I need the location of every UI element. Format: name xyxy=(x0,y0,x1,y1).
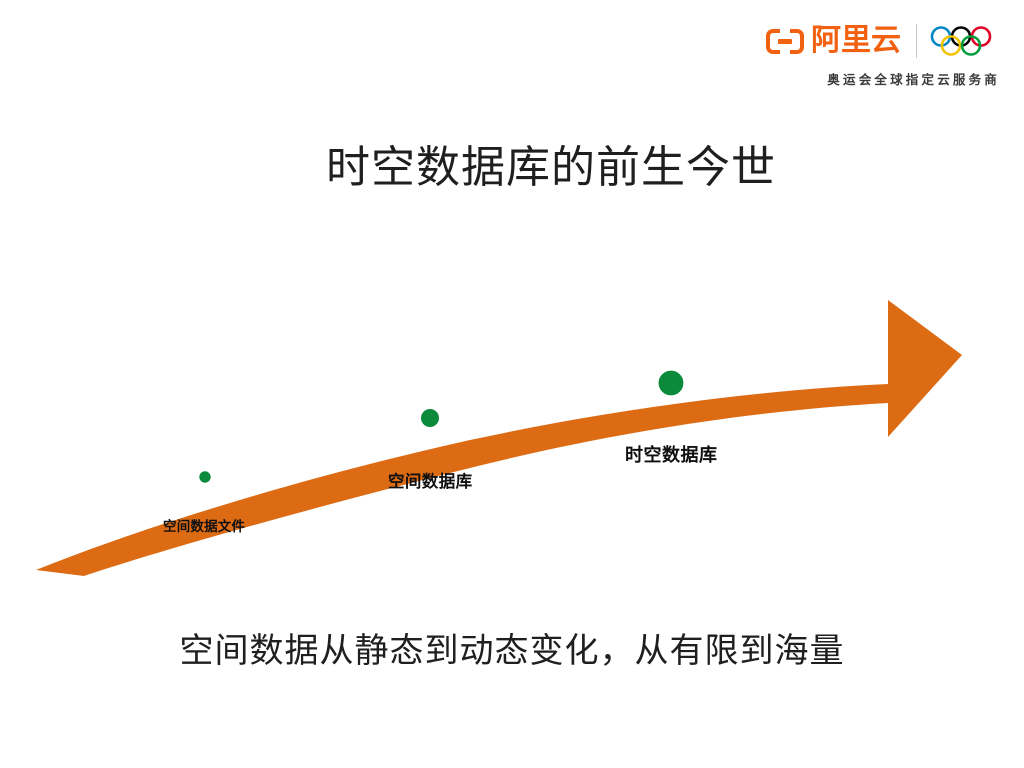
alibaba-cloud-logo-mark xyxy=(766,29,804,54)
brand-logo-row: 阿里云 xyxy=(770,18,1002,64)
slide-caption: 空间数据从静态到动态变化，从有限到海量 xyxy=(0,628,1024,674)
milestone-dot-3 xyxy=(658,370,685,397)
growth-arrow-graphic xyxy=(0,270,1024,600)
milestone-label-2: 空间数据库 xyxy=(388,468,473,492)
brand-block: 阿里云 奥运会全球指定云服务商 xyxy=(770,18,1002,88)
olympic-rings-icon xyxy=(930,25,1002,58)
milestone-label-3: 时空数据库 xyxy=(625,441,718,467)
milestone-dot-2 xyxy=(420,408,440,428)
milestone-dot-1 xyxy=(199,471,212,484)
brand-divider xyxy=(916,24,917,58)
page-title: 时空数据库的前生今世 xyxy=(326,140,776,196)
brand-tagline: 奥运会全球指定云服务商 xyxy=(770,72,1002,88)
presentation-slide: 阿里云 奥运会全球指定云服务商 时空数据库的前生今世 xyxy=(0,0,1024,768)
growth-arrow-svg xyxy=(0,270,1024,600)
milestone-label-1: 空间数据文件 xyxy=(163,515,245,535)
alibaba-cloud-logo-text: 阿里云 xyxy=(811,26,901,56)
